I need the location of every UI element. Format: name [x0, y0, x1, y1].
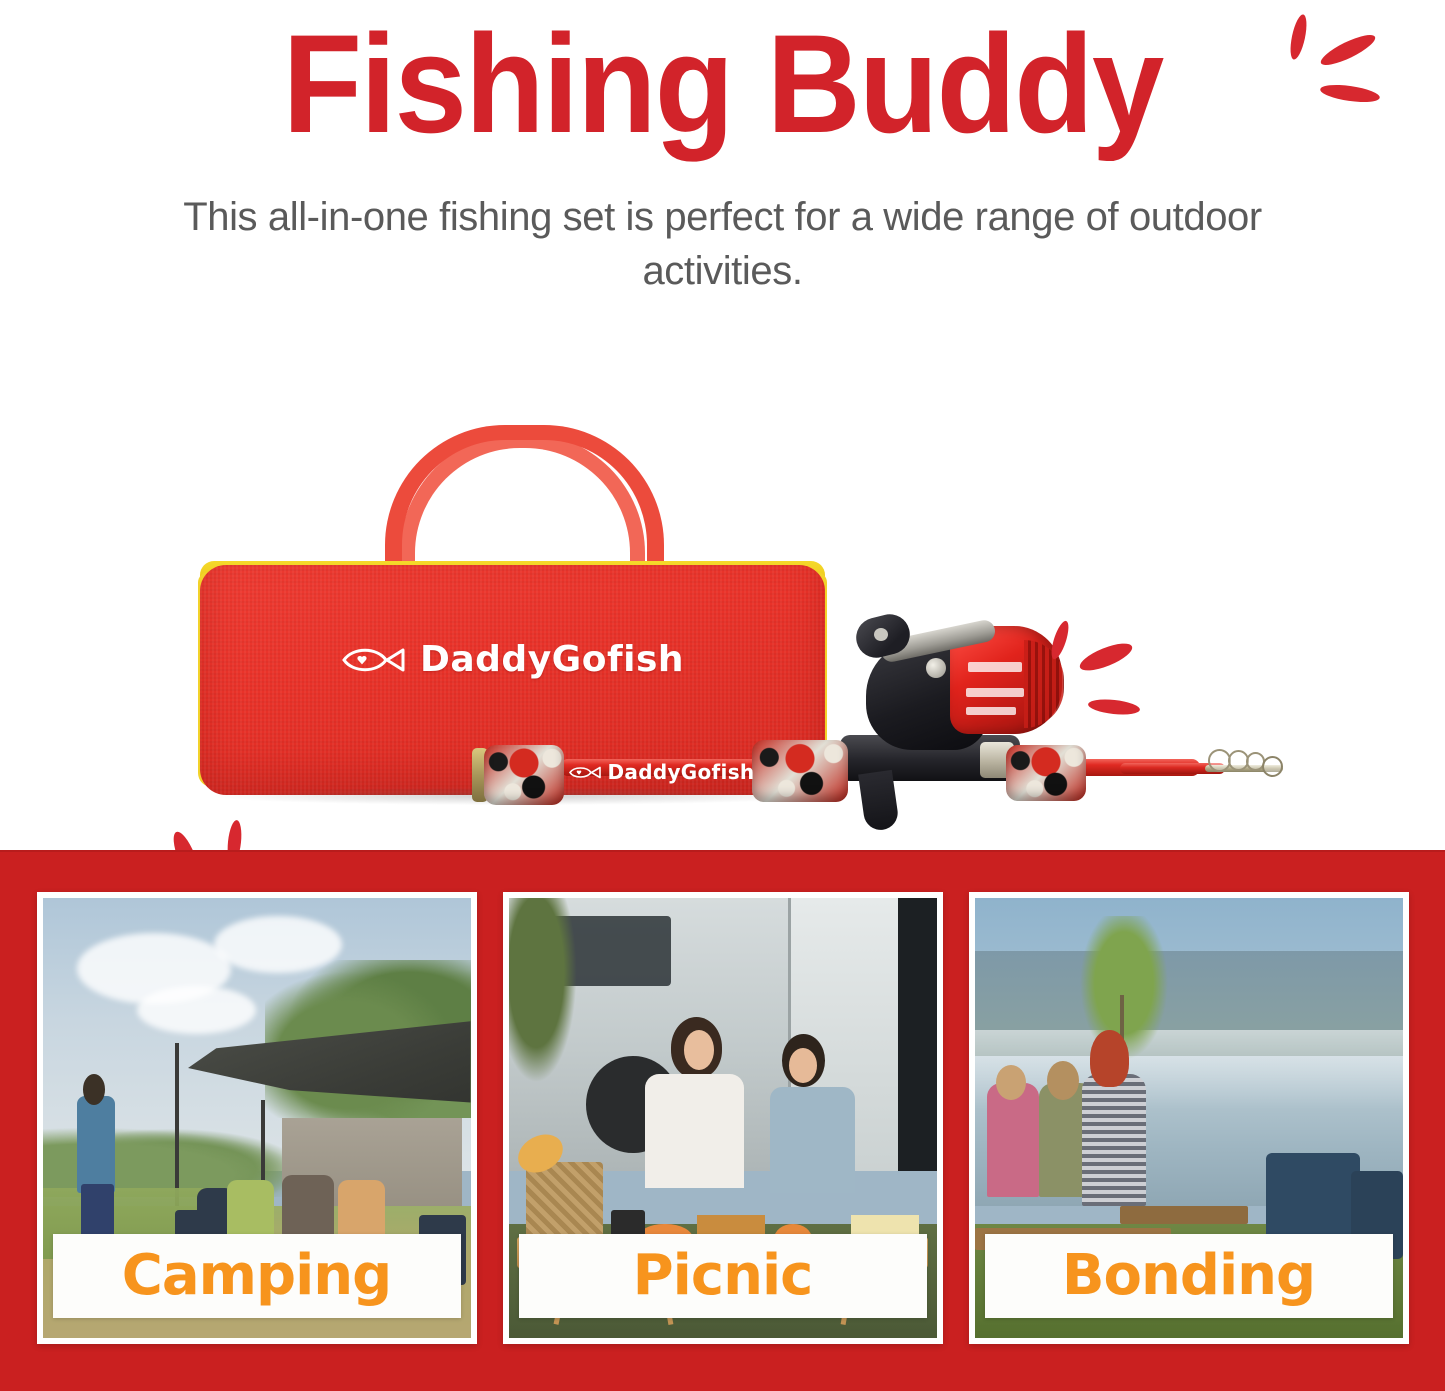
use-case-section: Camping: [0, 852, 1445, 1391]
product-infographic: Fishing Buddy This all-in-one fishing se…: [0, 0, 1445, 1391]
reel-slot: [966, 707, 1016, 715]
woman-face: [684, 1030, 714, 1070]
card-label-camping: Camping: [53, 1234, 461, 1318]
camo-grip-mid: [752, 740, 848, 802]
card-label-bonding: Bonding: [985, 1234, 1393, 1318]
person-fishing: [77, 1096, 116, 1193]
adult-patterned-sweater: [1082, 1074, 1146, 1206]
woman-body: [645, 1074, 743, 1188]
rod-brand-text: DaddyGofish: [608, 760, 755, 784]
rod-tip-guide-icon: [1262, 756, 1283, 777]
camo-grip-rear: [484, 745, 564, 805]
use-case-card-picnic[interactable]: Picnic: [503, 892, 943, 1344]
reel-screw-icon: [926, 658, 946, 678]
tree-foliage: [509, 898, 577, 1083]
picnic-basket: [526, 1162, 603, 1241]
boy-body: [770, 1087, 856, 1193]
reel-slot: [968, 662, 1022, 672]
rod-handle-assembly: DaddyGofish: [0, 0, 1445, 552]
use-case-card-row: Camping: [0, 892, 1445, 1352]
fish-heart-icon: [568, 765, 602, 780]
use-case-card-bonding[interactable]: Bonding: [969, 892, 1409, 1344]
card-label-text: Bonding: [1062, 1248, 1315, 1304]
boy-face: [789, 1048, 817, 1083]
adult-head: [1090, 1030, 1129, 1087]
card-label-text: Camping: [122, 1248, 391, 1304]
use-case-card-camping[interactable]: Camping: [37, 892, 477, 1344]
picnic-table: [1120, 1206, 1248, 1224]
card-label-text: Picnic: [633, 1248, 813, 1304]
camo-grip-front: [1006, 745, 1086, 801]
rod-branding: DaddyGofish: [566, 757, 756, 787]
card-label-picnic: Picnic: [519, 1234, 927, 1318]
reel-slot: [966, 688, 1024, 697]
child-head: [996, 1065, 1026, 1100]
reel-knob-cap: [874, 628, 888, 641]
van-interior: [898, 898, 937, 1171]
child-pink-hoodie: [987, 1083, 1038, 1197]
